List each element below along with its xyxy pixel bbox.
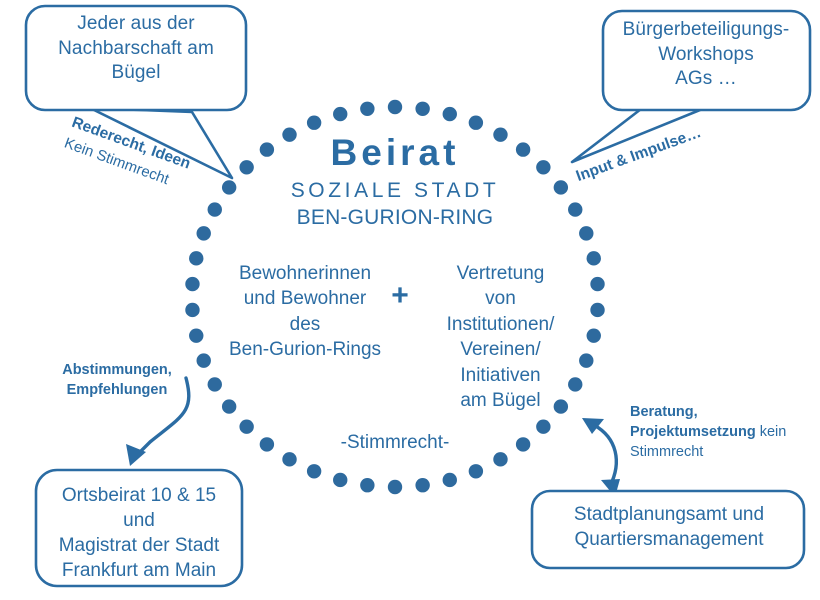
ring-dot [189,251,203,265]
bubble-participation-label: Bürgerbeteiligungs-WorkshopsAGs … [608,18,804,92]
ring-dot [516,437,530,451]
page-location: BEN-GURION-RING [240,205,550,231]
page-title: Beirat [255,130,535,175]
ring-dot [568,202,582,216]
ring-dot [185,277,199,291]
ring-dot [469,464,483,478]
ring-dot [222,180,236,194]
ring-dot [222,399,236,413]
ring-dot [189,328,203,342]
page-subtitle: SOZIALE STADT [255,178,535,204]
ring-dot [307,464,321,478]
ring-dot [360,102,374,116]
box-ortsbeirat-label: Ortsbeirat 10 & 15undMagistrat der Stadt… [44,483,234,583]
ring-dot [536,160,550,174]
ring-dot [260,437,274,451]
diagram-canvas: Jeder aus derNachbarschaft amBügel Bürge… [0,0,820,600]
ring-dot [197,226,211,240]
ring-dot [208,377,222,391]
ring-dot [333,473,347,487]
ring-dot [360,478,374,492]
ring-dot [579,353,593,367]
ring-dot [307,116,321,130]
ring-dot [536,419,550,433]
members-institutions-column: VertretungvonInstitutionen/Vereinen/Init… [428,261,573,414]
ring-dot [469,116,483,130]
ring-dot [239,419,253,433]
ring-dot [443,473,457,487]
ring-dot [493,452,507,466]
ring-dot [185,303,199,317]
ring-dot [587,328,601,342]
ring-dot [388,480,402,494]
ring-dot [587,251,601,265]
arrow-stadtplanungsamt [582,418,620,497]
ring-dot [590,277,604,291]
ring-dot [579,226,593,240]
voting-rights-note: -Stimmrecht- [300,431,490,454]
ring-dot [415,478,429,492]
arrow-label-abstimmungen: Abstimmungen,Empfehlungen [42,360,192,400]
ring-dot [333,107,347,121]
plus-icon: + [383,278,417,315]
ring-dot [415,102,429,116]
ring-dot [590,303,604,317]
ring-dot [197,353,211,367]
ring-dot [554,180,568,194]
members-residents-column: Bewohnerinnenund BewohnerdesBen-Gurion-R… [215,261,395,363]
ring-dot [388,100,402,114]
arrow-label-beratung-bold: Beratung,Projektumsetzung [630,404,756,440]
arrow-label-beratung: Beratung,Projektumsetzung kein Stimmrech… [630,402,795,462]
ring-dot [443,107,457,121]
ring-dot [208,202,222,216]
ring-dot [239,160,253,174]
bubble-neighbourhood-label: Jeder aus derNachbarschaft amBügel [36,12,236,86]
box-stadtplanungsamt-label: Stadtplanungsamt undQuartiersmanagement [540,502,798,552]
ring-dot [282,452,296,466]
